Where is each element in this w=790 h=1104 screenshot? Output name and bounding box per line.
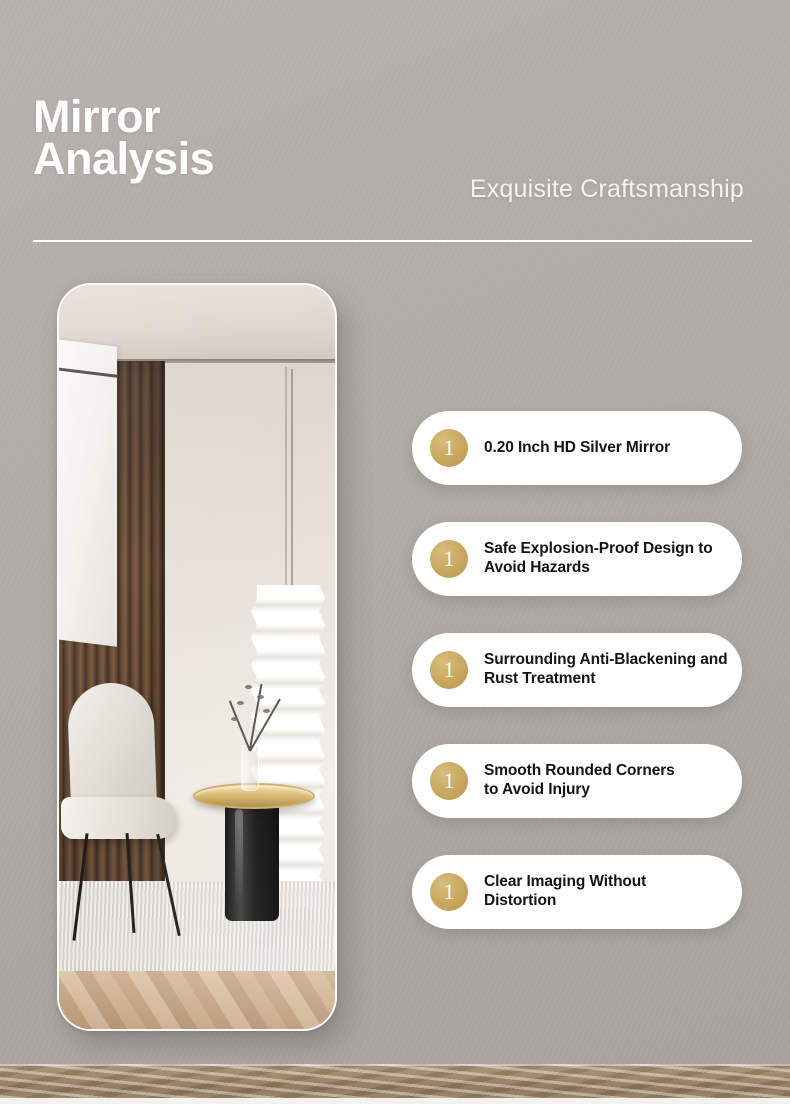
feature-label: Safe Explosion-Proof Design to Avoid Haz… <box>484 540 727 578</box>
feature-item-5[interactable]: 1 Clear Imaging Without Distortion <box>412 855 742 929</box>
header-divider <box>33 240 752 242</box>
floor-sheen <box>59 971 335 1029</box>
page-title-block: Mirror Analysis <box>33 96 214 180</box>
mirror-product-image <box>57 283 337 1031</box>
floor-edge-strip <box>0 1098 790 1104</box>
table-cylinder-base <box>225 803 279 921</box>
feature-number-badge: 1 <box>430 540 468 578</box>
chair-seat <box>61 797 177 839</box>
feature-list: 1 0.20 Inch HD Silver Mirror 1 Safe Expl… <box>412 411 742 966</box>
white-door-panel <box>59 339 117 647</box>
baseboard-top-edge <box>0 1064 790 1066</box>
marble-baseboard <box>0 1064 790 1098</box>
feature-number-badge: 1 <box>430 429 468 467</box>
feature-item-3[interactable]: 1 Surrounding Anti-Blackening and Rust T… <box>412 633 742 707</box>
page-subtitle: Exquisite Craftsmanship <box>470 175 744 204</box>
page-title: Mirror Analysis <box>33 96 214 180</box>
pendant-cord <box>291 369 293 599</box>
mirror-frame <box>57 283 337 1031</box>
feature-item-1[interactable]: 1 0.20 Inch HD Silver Mirror <box>412 411 742 485</box>
feature-label: Smooth Rounded Corners to Avoid Injury <box>484 762 689 800</box>
branch-leaf <box>263 709 270 713</box>
feature-label: Clear Imaging Without Distortion <box>484 873 660 911</box>
feature-number-badge: 1 <box>430 651 468 689</box>
table-base-highlight <box>235 809 243 905</box>
branch-leaf <box>245 685 252 689</box>
feature-number-badge: 1 <box>430 762 468 800</box>
feature-item-4[interactable]: 1 Smooth Rounded Corners to Avoid Injury <box>412 744 742 818</box>
reflected-room-scene <box>59 285 335 1029</box>
product-detail-page: Mirror Analysis Exquisite Craftsmanship <box>0 0 790 1104</box>
feature-label: Surrounding Anti-Blackening and Rust Tre… <box>484 651 741 689</box>
branch-leaf <box>237 701 244 705</box>
feature-item-2[interactable]: 1 Safe Explosion-Proof Design to Avoid H… <box>412 522 742 596</box>
feature-number-badge: 1 <box>430 873 468 911</box>
branch-leaf <box>257 695 264 699</box>
feature-label: 0.20 Inch HD Silver Mirror <box>484 439 684 458</box>
branch-leaf <box>231 717 238 721</box>
glass-vase <box>241 745 259 791</box>
